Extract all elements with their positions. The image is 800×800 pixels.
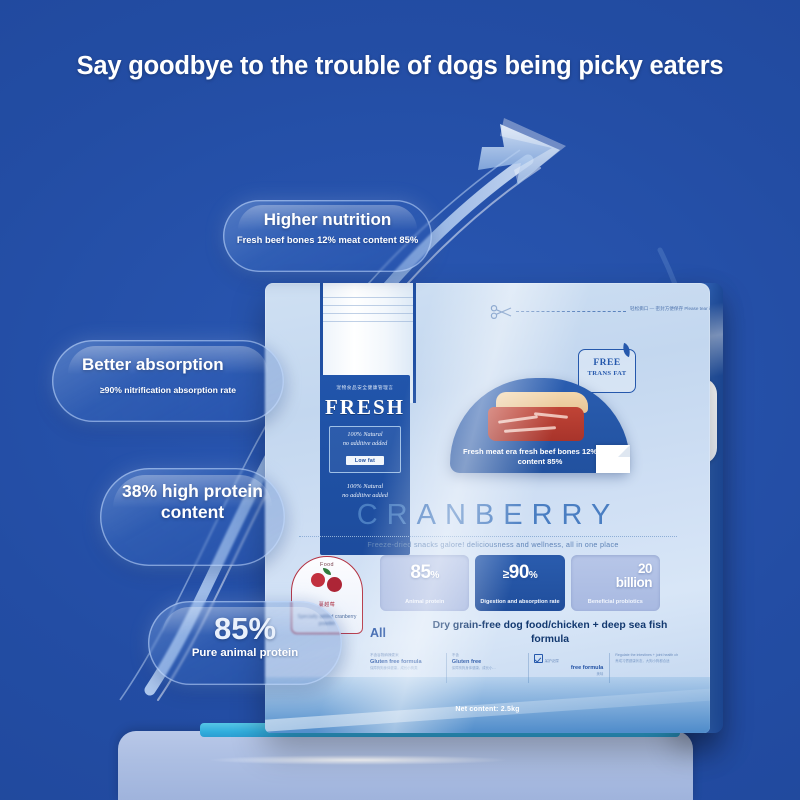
callout-subtitle: ≥90% nitrification absorption rate [52,385,284,395]
feature-cn: 不含 [452,653,522,658]
callout-high-protein[interactable]: 38% high protein content [100,468,285,566]
net-content-bottom: Net content: 2.5kg [265,706,710,713]
callout-title: Higher nutrition [223,200,432,229]
tear-dashed-line [516,311,626,312]
feature-en: free formula [534,665,604,671]
product-marketing-banner: Say goodbye to the trouble of dogs being… [0,0,800,800]
scissors-icon [490,305,512,319]
badge-food-label: Food [292,562,362,568]
callout-title: 85% [148,601,342,644]
stat-label: Beneficial probiotics [574,599,657,606]
callout-better-absorption[interactable]: Better absorption ≥90% nitrification abs… [52,340,284,422]
fresh-wordmark: FRESH [320,395,410,420]
stat-card-animal-protein: 85% Animal protein [380,555,469,611]
feature-cn2: 保障狗狗身体健康，成长小… [452,666,522,670]
callout-subtitle: Pure animal protein [148,647,342,660]
feature-cn: 呆护泛尿 [534,653,604,664]
callout-title: 38% high protein content [100,468,285,524]
product-pedestal [118,731,693,800]
leaf-icon [620,343,632,357]
fresh-natural-box: 100% Natural no additive added Low fat [329,426,401,473]
badge-line-2: TRANS FAT [579,370,635,377]
leaf-icon [323,568,331,575]
stat-label: Digestion and absorption rate [478,599,561,606]
feature-cn2: 美味 [534,672,604,676]
feature-en: Gluten free formula [370,659,440,665]
tear-note: 轻松撕口 — 密封方便保存 Please tear it here [630,306,710,312]
low-fat-tag: Low fat [346,456,384,465]
free-trans-fat-badge: FREE TRANS FAT [578,349,636,393]
stat-card-probiotics: 20billion Beneficial probiotics [571,555,660,611]
cranberry-icon [311,573,325,587]
check-icon [534,654,543,663]
feature-cn: 不含谷物麻辣麦米 [370,653,440,658]
callout-higher-nutrition[interactable]: Higher nutrition Fresh beef bones 12% me… [223,200,432,272]
badge-line-1: FREE [579,358,635,368]
stat-value: 85% [380,563,469,582]
beef-cut-illustration [488,392,592,442]
wordmark-divider [299,536,677,537]
package-bottom-band [265,677,710,733]
stat-card-absorption: ≥90% Digestion and absorption rate [475,555,564,611]
stat-value: 20billion [571,562,660,590]
callout-title: Better absorption [52,340,284,375]
tear-line: 轻松撕口 — 密封方便保存 Please tear it here [490,305,700,317]
feature-en: Gluten free [452,659,522,665]
stat-value: ≥90% [475,563,564,582]
stat-label: Animal protein [383,599,466,606]
fresh-natural-text-2: 100% Natural no additive added [320,482,410,501]
feature-cn: Regulate the intestines + joint health c… [615,653,685,658]
product-tagline: Freeze-dried snacks galore! deliciousnes… [293,540,693,549]
fresh-panel-cn-top: 宠物食品安全健康管理言 [320,385,410,391]
nutrition-stats-row: 85% Animal protein ≥90% Digestion and ab… [380,555,660,611]
feature-cn2: 保障狗狗身体健康，成长小狗类 [370,666,440,670]
callout-pure-animal-protein[interactable]: 85% Pure animal protein [148,601,342,685]
fresh-natural-text: 100% Natural no additive added [332,431,398,449]
product-wordmark: CRANBERRY [293,499,683,532]
all-label: All [370,626,386,640]
feature-cn2: 养成习惯健康状态，大狗小狗都合适 [615,659,685,663]
product-description: Dry grain-free dog food/chicken + deep s… [415,619,685,647]
cranberry-icon-2 [327,577,342,592]
page-curl-corner [596,445,630,473]
callout-subtitle: Fresh beef bones 12% meat content 85% [223,234,432,245]
